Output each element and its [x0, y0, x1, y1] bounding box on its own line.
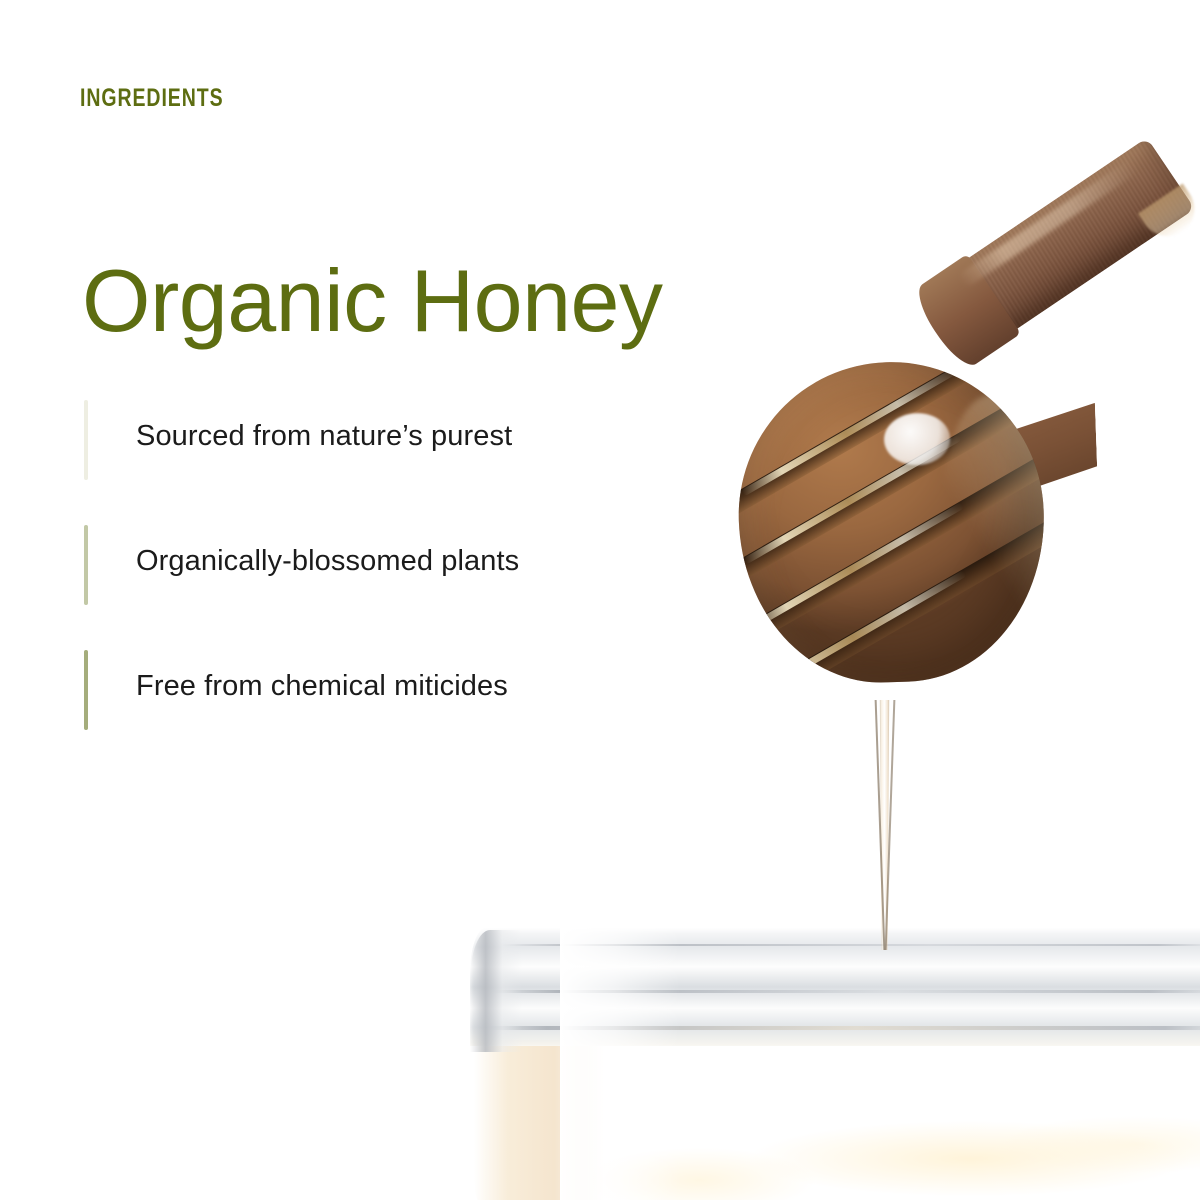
jar-rim-line-3 — [488, 1026, 1200, 1030]
page-title: Organic Honey — [82, 255, 662, 347]
feature-label-1: Sourced from nature’s purest — [136, 420, 512, 453]
dipper-groove-4 — [733, 509, 1049, 687]
jar-honey-fill — [474, 1040, 1200, 1200]
feature-label-2: Organically-blossomed plants — [136, 545, 519, 578]
list-item: Organically-blossomed plants — [84, 523, 644, 648]
jar-glass-rim — [470, 928, 1200, 1046]
ingredients-panel: INGREDIENTS Organic Honey Sourced from n… — [0, 0, 1200, 1200]
glass-honey-jar-icon — [470, 928, 1200, 1200]
feature-rule-3 — [84, 650, 88, 730]
dipper-sheen — [938, 393, 1050, 647]
feature-rule-1 — [84, 400, 88, 480]
feature-label-3: Free from chemical miticides — [136, 670, 508, 703]
honey-dipper-icon — [723, 346, 1067, 757]
honey-drizzle-icon — [872, 700, 898, 950]
feature-list: Sourced from nature’s purest Organically… — [84, 398, 644, 773]
dipper-head — [733, 357, 1049, 687]
feature-rule-2 — [84, 525, 88, 605]
handle-honey-drip — [1138, 183, 1200, 246]
dipper-neck — [983, 403, 1098, 503]
honey-drizzle-core — [878, 700, 891, 950]
dipper-gloss-highlight — [883, 412, 951, 466]
honey-drizzle-edge-left — [875, 700, 886, 950]
jar-rim-line-1 — [500, 944, 1200, 946]
honey-drizzle-edge-right — [885, 700, 896, 950]
jar-left-highlight — [474, 1040, 604, 1200]
jar-honey-sheen — [474, 1040, 1200, 1200]
handle-tip — [909, 254, 1021, 373]
honey-dipper-handle — [940, 138, 1200, 427]
list-item: Free from chemical miticides — [84, 648, 644, 773]
list-item: Sourced from nature’s purest — [84, 398, 644, 523]
handle-highlight — [957, 158, 1140, 289]
jar-glass-left-edge — [470, 930, 522, 1052]
dipper-groove-1 — [733, 357, 1049, 523]
photo-left-fade — [560, 880, 680, 1200]
jar-rim-line-2 — [492, 990, 1200, 993]
dipper-groove-2 — [733, 373, 1049, 590]
section-eyebrow: INGREDIENTS — [80, 84, 224, 113]
handle-shaft — [940, 138, 1195, 349]
dipper-groove-3 — [733, 441, 1049, 658]
